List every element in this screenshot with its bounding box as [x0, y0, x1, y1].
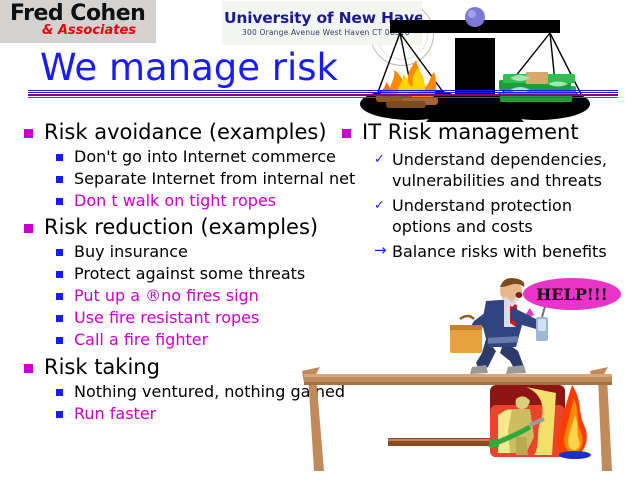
list-item-text: Don t walk on tight ropes — [74, 191, 276, 210]
list-item-text-line2: vulnerabilities and threats — [392, 171, 636, 192]
list-item-text: Call a fire fighter — [74, 330, 208, 349]
list-item: ✓ Understand dependencies, vulnerabiliti… — [336, 150, 636, 191]
balance-scale-graphic — [360, 0, 590, 135]
list-item-text: Protect against some threats — [74, 264, 305, 283]
heading-risk-avoidance: Risk avoidance (examples) — [16, 120, 366, 145]
right-content-column: IT Risk management ✓ Understand dependen… — [336, 120, 636, 263]
list-item-text: Run faster — [74, 404, 156, 423]
square-bullet-icon — [24, 364, 33, 373]
square-bullet-icon — [56, 271, 63, 278]
arrow-icon: → — [374, 242, 387, 258]
square-bullet-icon — [56, 337, 63, 344]
square-bullet-icon — [56, 249, 63, 256]
list-item-text-line2: options and costs — [392, 217, 636, 238]
heading-text: Risk avoidance (examples) — [44, 120, 327, 144]
list-item-text-line1: Balance risks with benefits — [392, 242, 636, 263]
list-item: Don t walk on tight ropes — [16, 190, 366, 212]
square-bullet-icon — [56, 389, 63, 396]
slide-canvas: Fred Cohen & Associates University of Ne… — [0, 0, 640, 480]
check-icon: ✓ — [374, 198, 385, 214]
list-item-text: Put up a ®no fires sign — [74, 286, 259, 305]
list-item-text: Buy insurance — [74, 242, 188, 261]
fred-cohen-logo: Fred Cohen & Associates — [0, 0, 156, 43]
list-item-text-line1: Understand protection — [392, 196, 636, 217]
list-item: ✓ Understand protection options and cost… — [336, 196, 636, 237]
fred-cohen-associates: & Associates — [42, 23, 136, 38]
square-bullet-icon — [56, 315, 63, 322]
tightrope-scene-graphic: HELP!!! — [290, 275, 640, 480]
square-bullet-icon — [56, 293, 63, 300]
list-item: Don't go into Internet commerce — [16, 146, 366, 168]
list-item-text: Don't go into Internet commerce — [74, 147, 336, 166]
title-divider — [28, 90, 618, 99]
square-bullet-icon — [24, 224, 33, 233]
square-bullet-icon — [56, 411, 63, 418]
speech-bubble: HELP!!! — [523, 278, 621, 310]
square-bullet-icon — [56, 154, 63, 161]
list-item: Separate Internet from internal net — [16, 168, 366, 190]
list-item: Buy insurance — [16, 241, 366, 263]
slide-title: We manage risk — [40, 46, 338, 89]
square-bullet-icon — [56, 198, 63, 205]
list-item-text-line1: Understand dependencies, — [392, 150, 636, 171]
list-item-text: Use fire resistant ropes — [74, 308, 259, 327]
heading-risk-reduction: Risk reduction (examples) — [16, 215, 366, 240]
square-bullet-icon — [342, 129, 351, 138]
check-icon: ✓ — [374, 152, 385, 168]
speech-bubble-text: HELP!!! — [523, 278, 621, 310]
list-item-text: Separate Internet from internal net — [74, 169, 355, 188]
heading-text: Risk reduction (examples) — [44, 215, 318, 239]
list-item: → Balance risks with benefits — [336, 242, 636, 263]
square-bullet-icon — [56, 176, 63, 183]
square-bullet-icon — [24, 129, 33, 138]
heading-text: Risk taking — [44, 355, 160, 379]
